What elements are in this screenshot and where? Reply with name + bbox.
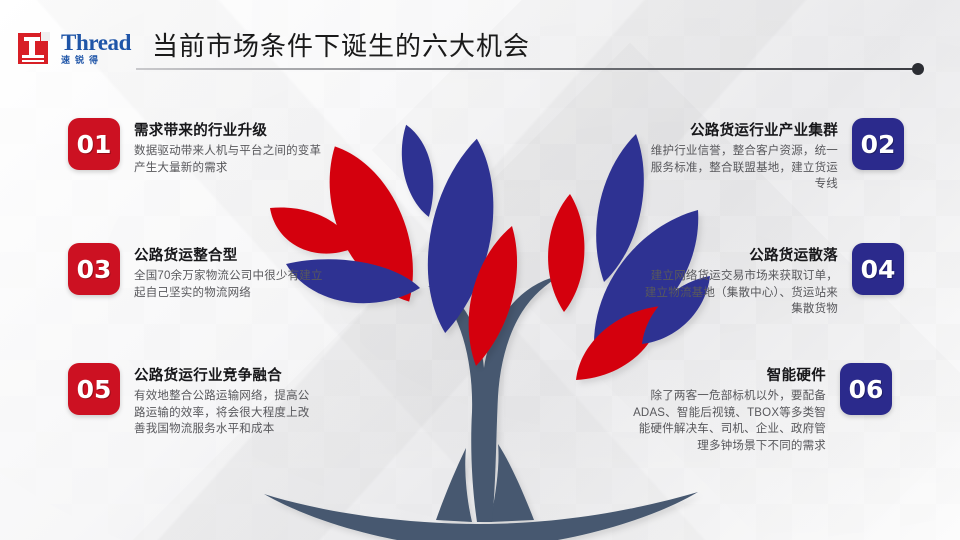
- item-number-badge: 03: [68, 243, 120, 295]
- item-number: 03: [77, 255, 112, 284]
- brand-name-en: Thread: [61, 31, 131, 54]
- item-title: 智能硬件: [628, 364, 826, 385]
- item-text: 公路货运行业竞争融合 有效地整合公路运输网络，提高公路运输的效率，将会很大程度上…: [134, 363, 319, 438]
- opportunity-item-04[interactable]: 公路货运散落 建立网络货运交易市场来获取订单，建立物流基地（集散中心）、货运站来…: [640, 243, 904, 318]
- brand-name-cn: 速锐得: [61, 56, 131, 65]
- item-text: 公路货运整合型 全国70余万家物流公司中很少有建立起自己坚实的物流网络: [134, 243, 329, 301]
- item-body: 除了两客一危部标机以外，要配备ADAS、智能后视镜、TBOX等多类智能硬件解决车…: [628, 388, 826, 455]
- slide-canvas: Thread 速锐得 当前市场条件下诞生的六大机会: [0, 0, 960, 540]
- item-title: 需求带来的行业升级: [134, 119, 324, 140]
- item-body: 维护行业信誉，整合客户资源，统一服务标准，整合联盟基地，建立货运专线: [640, 143, 838, 193]
- item-text: 需求带来的行业升级 数据驱动带来人机与平台之间的变革产生大量新的需求: [134, 118, 324, 176]
- item-number: 04: [861, 255, 896, 284]
- item-number: 02: [861, 130, 896, 159]
- opportunity-item-01[interactable]: 01 需求带来的行业升级 数据驱动带来人机与平台之间的变革产生大量新的需求: [68, 118, 324, 176]
- item-number-badge: 04: [852, 243, 904, 295]
- item-title: 公路货运整合型: [134, 244, 329, 265]
- item-number-badge: 05: [68, 363, 120, 415]
- opportunity-item-06[interactable]: 智能硬件 除了两客一危部标机以外，要配备ADAS、智能后视镜、TBOX等多类智能…: [628, 363, 892, 455]
- item-body: 有效地整合公路运输网络，提高公路运输的效率，将会很大程度上改善我国物流服务水平和…: [134, 388, 319, 438]
- thread-book-mark-icon: [16, 30, 52, 66]
- item-number: 06: [849, 375, 884, 404]
- item-title: 公路货运散落: [640, 244, 838, 265]
- page-title: 当前市场条件下诞生的六大机会: [152, 26, 530, 63]
- item-number: 05: [77, 375, 112, 404]
- item-title: 公路货运行业产业集群: [640, 119, 838, 140]
- item-number-badge: 02: [852, 118, 904, 170]
- slide-header: Thread 速锐得 当前市场条件下诞生的六大机会: [0, 24, 960, 74]
- item-text: 智能硬件 除了两客一危部标机以外，要配备ADAS、智能后视镜、TBOX等多类智能…: [628, 363, 826, 455]
- brand-logo-text: Thread 速锐得: [61, 31, 131, 65]
- item-text: 公路货运行业产业集群 维护行业信誉，整合客户资源，统一服务标准，整合联盟基地，建…: [640, 118, 838, 193]
- opportunity-item-05[interactable]: 05 公路货运行业竞争融合 有效地整合公路运输网络，提高公路运输的效率，将会很大…: [68, 363, 319, 438]
- item-title: 公路货运行业竞争融合: [134, 364, 319, 385]
- item-body: 数据驱动带来人机与平台之间的变革产生大量新的需求: [134, 143, 324, 176]
- header-endpoint-dot: [912, 63, 924, 75]
- item-body: 全国70余万家物流公司中很少有建立起自己坚实的物流网络: [134, 268, 329, 301]
- header-divider: [136, 68, 916, 70]
- opportunity-item-03[interactable]: 03 公路货运整合型 全国70余万家物流公司中很少有建立起自己坚实的物流网络: [68, 243, 329, 301]
- item-number-badge: 01: [68, 118, 120, 170]
- opportunity-item-02[interactable]: 公路货运行业产业集群 维护行业信誉，整合客户资源，统一服务标准，整合联盟基地，建…: [640, 118, 904, 193]
- brand-logo[interactable]: Thread 速锐得: [16, 30, 131, 66]
- item-number-badge: 06: [840, 363, 892, 415]
- item-body: 建立网络货运交易市场来获取订单，建立物流基地（集散中心）、货运站来集散货物: [640, 268, 838, 318]
- item-text: 公路货运散落 建立网络货运交易市场来获取订单，建立物流基地（集散中心）、货运站来…: [640, 243, 838, 318]
- item-number: 01: [77, 130, 112, 159]
